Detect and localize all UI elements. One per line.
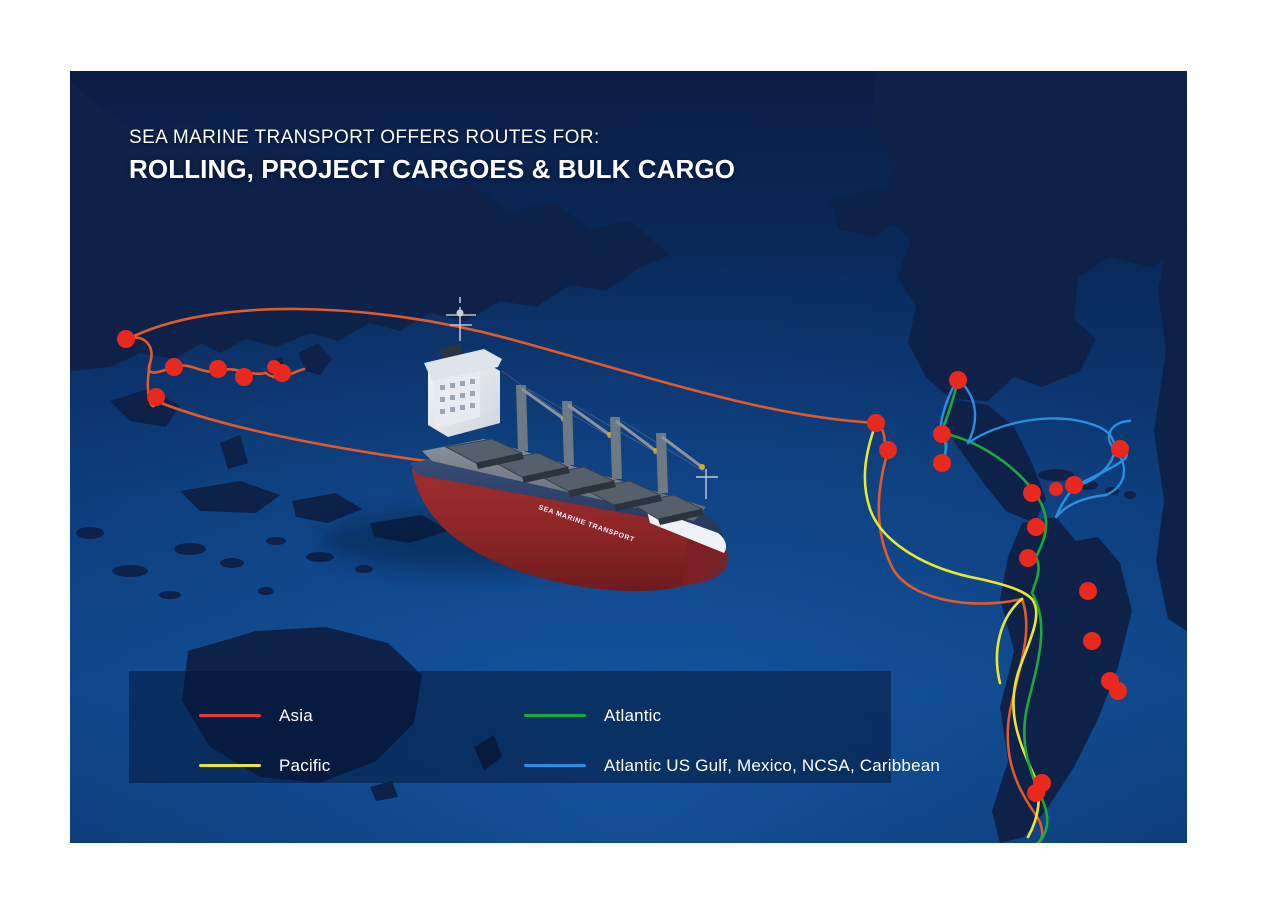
port-marker (933, 425, 951, 443)
port-marker (165, 358, 183, 376)
page-title: ROLLING, PROJECT CARGOES & BULK CARGO (129, 153, 735, 186)
port-marker (147, 388, 165, 406)
port-marker (1027, 518, 1045, 536)
bulk-carrier-graphic: SEA MARINE TRANSPORT (388, 293, 818, 633)
legend-item-asia[interactable]: Asia (199, 697, 524, 733)
port-marker (1027, 784, 1045, 802)
radar-dome (457, 310, 464, 317)
port-marker (879, 441, 897, 459)
port-marker (1019, 549, 1037, 567)
ship-mast (446, 297, 476, 341)
legend-item-atlantic-us-gulf[interactable]: Atlantic US Gulf, Mexico, NCSA, Caribbea… (524, 747, 940, 783)
slide-canvas: SEA MARINE TRANSPORT SEA MARINE TRANSPOR… (0, 0, 1287, 915)
deck-crane (610, 417, 659, 479)
legend-label-asia: Asia (279, 707, 313, 724)
port-marker (1049, 482, 1063, 496)
port-marker (867, 414, 885, 432)
legend-label-atlantic: Atlantic (604, 707, 661, 724)
legend-label-pacific: Pacific (279, 757, 330, 774)
legend-line-swatch-pacific (199, 764, 261, 767)
port-marker (117, 330, 135, 348)
legend-line-swatch-asia (199, 714, 261, 717)
ship-illustration: SEA MARINE TRANSPORT (388, 293, 818, 633)
title-block: SEA MARINE TRANSPORT OFFERS ROUTES FOR: … (129, 127, 735, 185)
legend-item-pacific[interactable]: Pacific (199, 747, 524, 783)
route-legend: Asia Atlantic Pacific Atlantic US Gulf, … (129, 671, 891, 783)
legend-line-swatch-atlantic-us-gulf (524, 764, 586, 767)
world-map-panel: SEA MARINE TRANSPORT SEA MARINE TRANSPOR… (70, 71, 1187, 843)
port-marker (949, 371, 967, 389)
deck-crane (562, 401, 613, 465)
subtitle: SEA MARINE TRANSPORT OFFERS ROUTES FOR: (129, 127, 735, 150)
port-marker (1065, 476, 1083, 494)
port-marker (1083, 632, 1101, 650)
port-marker (1109, 682, 1127, 700)
legend-grid: Asia Atlantic Pacific Atlantic US Gulf, … (129, 671, 891, 783)
port-marker (209, 360, 227, 378)
port-marker (1023, 484, 1041, 502)
port-marker (235, 368, 253, 386)
port-marker (267, 360, 281, 374)
land-africa-europe (1154, 227, 1187, 631)
forecastle-mast (696, 469, 718, 499)
deck-crane (516, 385, 567, 451)
port-marker (1079, 582, 1097, 600)
legend-line-swatch-atlantic (524, 714, 586, 717)
ship-superstructure (424, 343, 502, 437)
deck-crane (656, 433, 705, 493)
port-marker (933, 454, 951, 472)
port-marker (1111, 440, 1129, 458)
legend-item-atlantic[interactable]: Atlantic (524, 697, 940, 733)
legend-label-atlantic-us-gulf: Atlantic US Gulf, Mexico, NCSA, Caribbea… (604, 757, 940, 774)
